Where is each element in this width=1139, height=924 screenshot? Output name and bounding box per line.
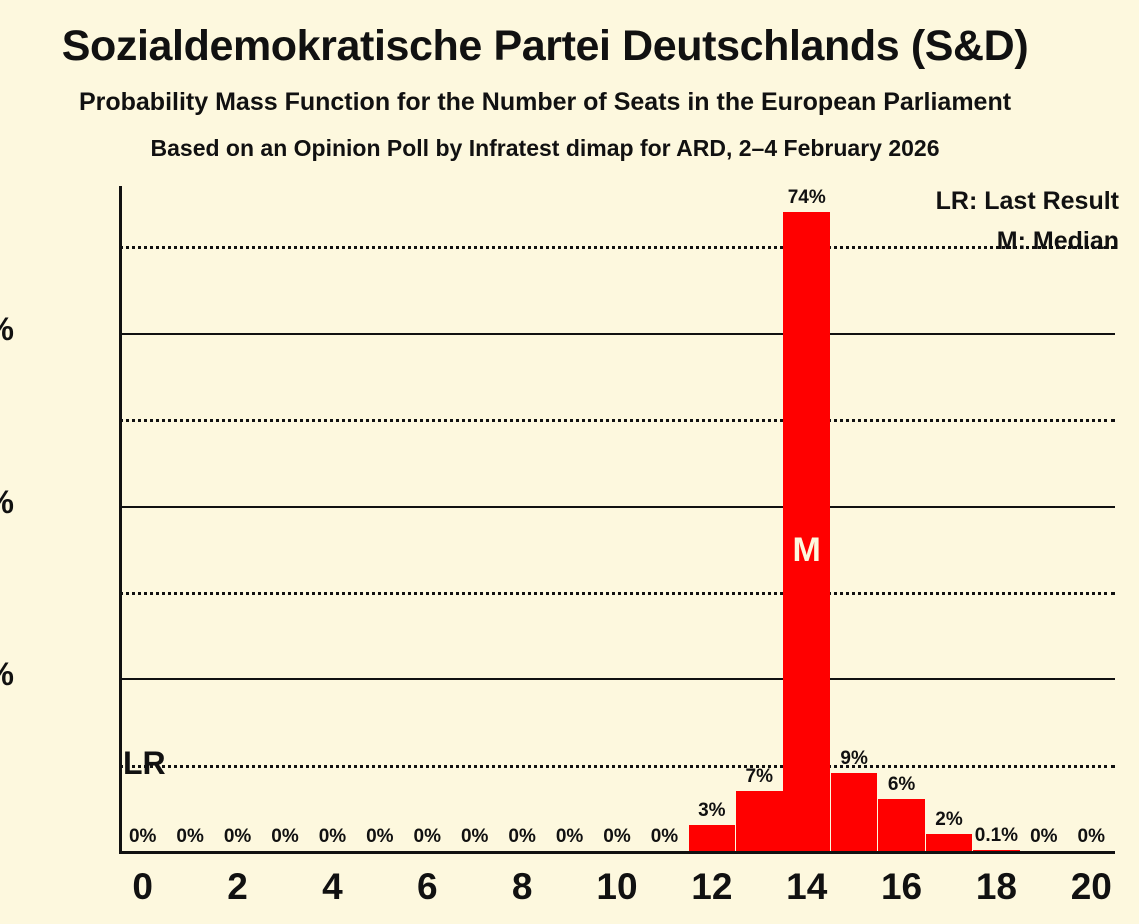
bar-label-seat-16: 6% bbox=[862, 774, 942, 796]
y-axis-line bbox=[119, 186, 122, 851]
x-tick-label-16: 16 bbox=[862, 866, 942, 908]
x-tick-label-18: 18 bbox=[956, 866, 1036, 908]
median-marker: M bbox=[767, 531, 847, 570]
x-axis-line bbox=[119, 851, 1115, 854]
gridline-minor-10 bbox=[119, 765, 1115, 768]
bar-label-seat-12: 3% bbox=[672, 800, 752, 822]
gridline-minor-30 bbox=[119, 592, 1115, 595]
chart-subtitle: Probability Mass Function for the Number… bbox=[0, 88, 1090, 117]
bar-label-seat-14: 74% bbox=[767, 187, 847, 209]
x-tick-label-2: 2 bbox=[198, 866, 278, 908]
x-tick-label-4: 4 bbox=[292, 866, 372, 908]
x-tick-label-8: 8 bbox=[482, 866, 562, 908]
plot-area bbox=[119, 186, 1115, 851]
gridline-major-60 bbox=[119, 333, 1115, 335]
x-tick-label-6: 6 bbox=[387, 866, 467, 908]
last-result-marker: LR bbox=[123, 745, 166, 782]
bar-seat-18 bbox=[973, 850, 1019, 851]
x-tick-label-10: 10 bbox=[577, 866, 657, 908]
gridline-minor-70 bbox=[119, 246, 1115, 249]
y-tick-label-40: 40% bbox=[0, 484, 14, 521]
gridline-minor-50 bbox=[119, 419, 1115, 422]
x-tick-label-12: 12 bbox=[672, 866, 752, 908]
x-tick-label-0: 0 bbox=[103, 866, 183, 908]
page-title: Sozialdemokratische Partei Deutschlands … bbox=[0, 22, 1090, 71]
gridline-major-40 bbox=[119, 506, 1115, 508]
gridline-major-20 bbox=[119, 678, 1115, 680]
bar-label-seat-15: 9% bbox=[814, 748, 894, 770]
bar-label-seat-13: 7% bbox=[719, 766, 799, 788]
chart-page: Sozialdemokratische Partei Deutschlands … bbox=[0, 0, 1139, 924]
bar-label-seat-20: 0% bbox=[1051, 826, 1131, 848]
x-tick-label-14: 14 bbox=[767, 866, 847, 908]
bar-label-seat-11: 0% bbox=[624, 826, 704, 848]
chart-source-line: Based on an Opinion Poll by Infratest di… bbox=[0, 135, 1090, 162]
x-tick-label-20: 20 bbox=[1051, 866, 1131, 908]
y-tick-label-60: 60% bbox=[0, 311, 14, 348]
y-tick-label-20: 20% bbox=[0, 656, 14, 693]
